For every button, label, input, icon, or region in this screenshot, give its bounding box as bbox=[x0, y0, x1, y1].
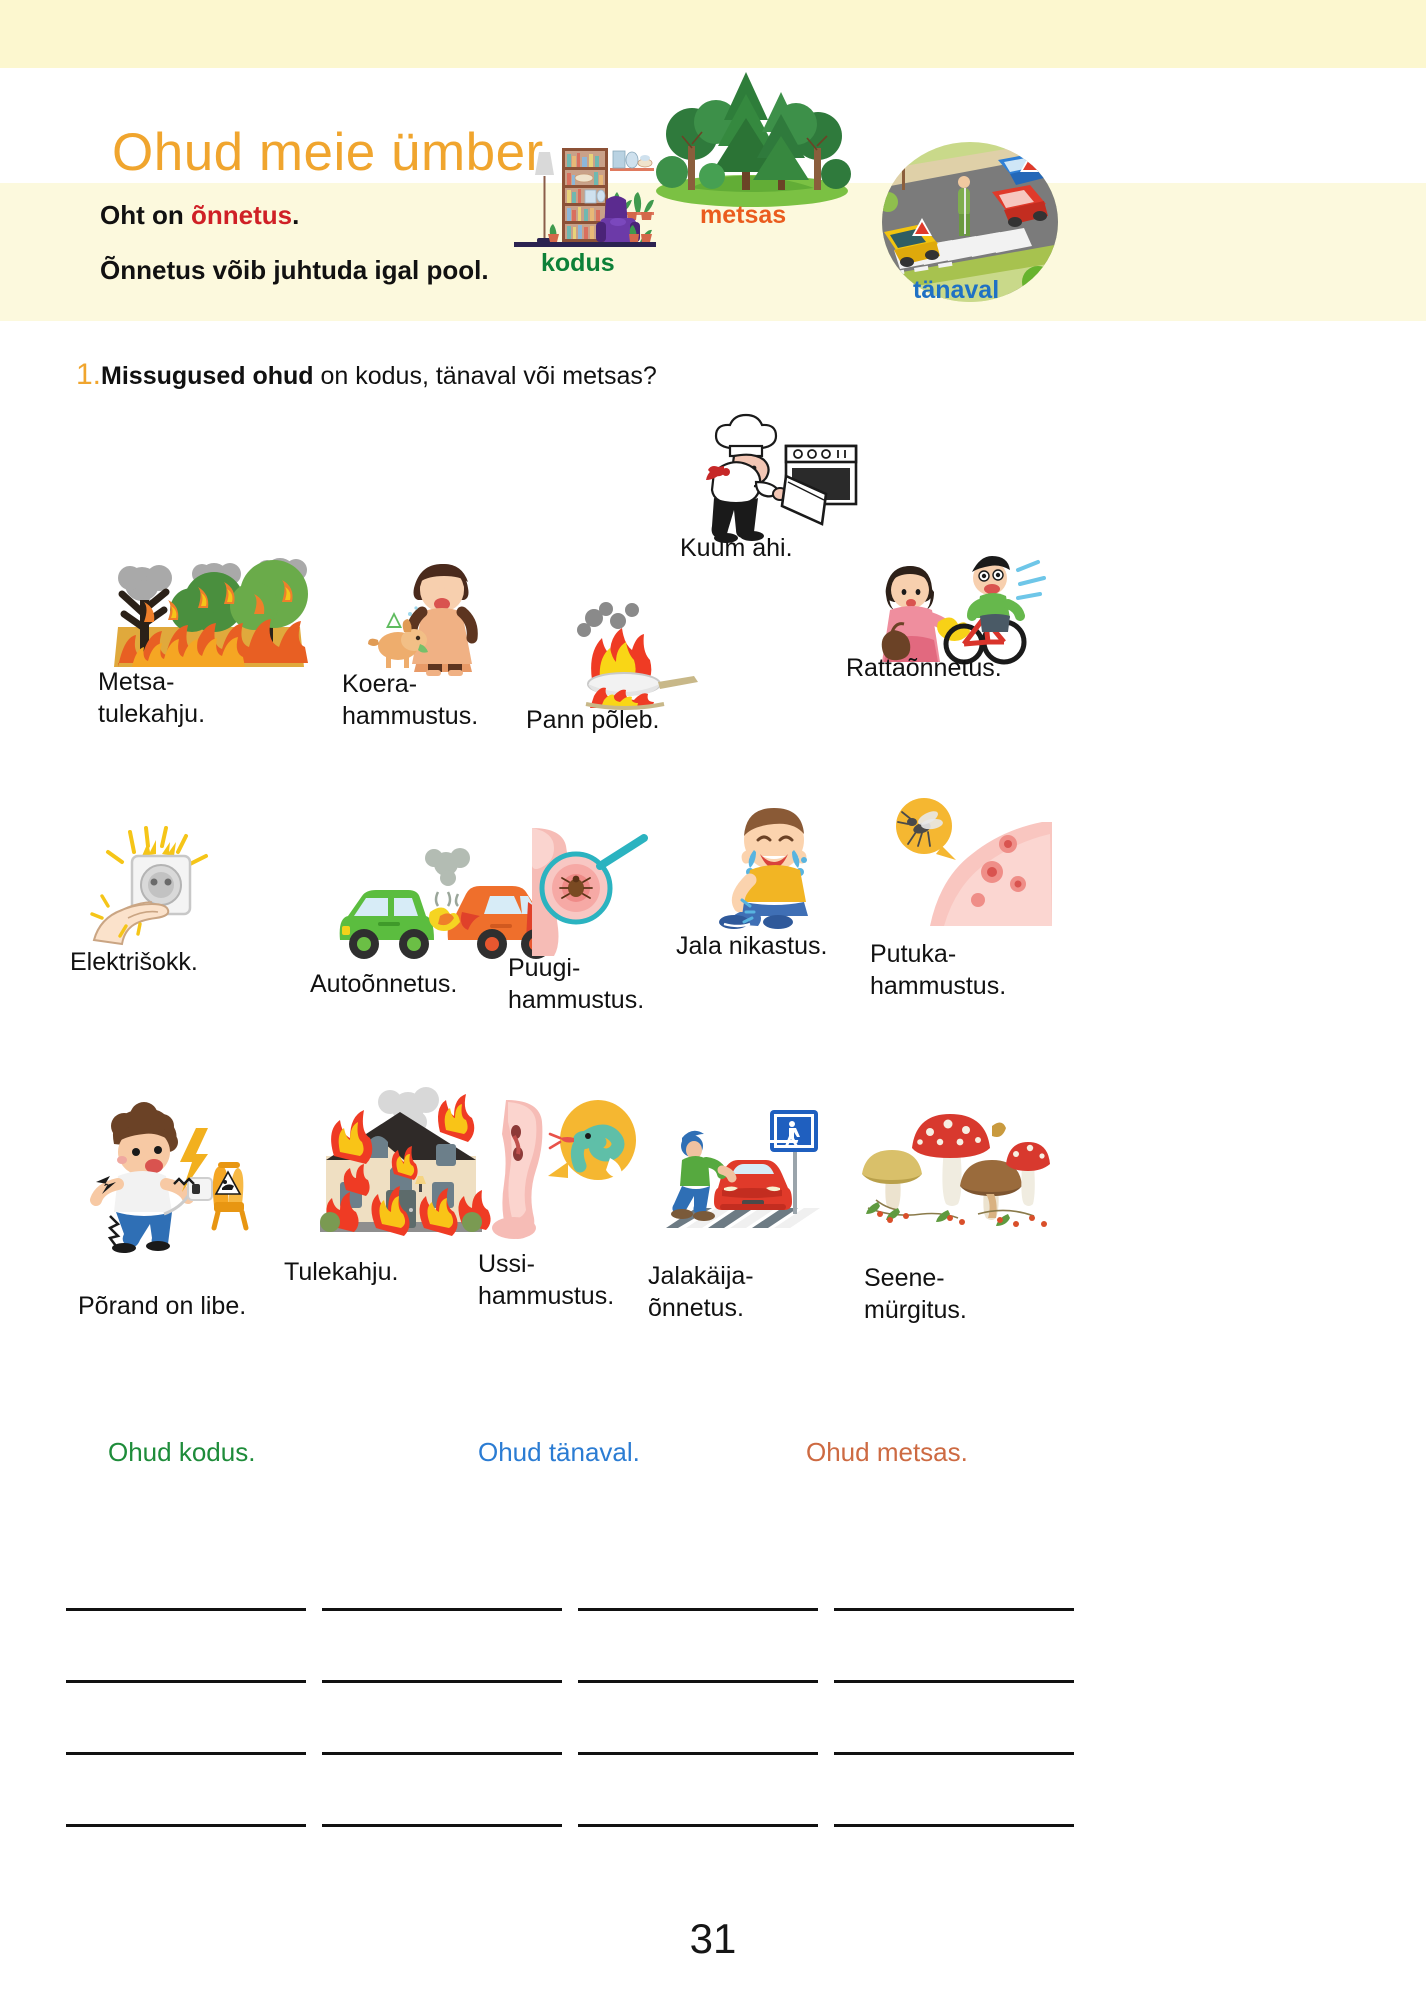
picture-card-forest-fire: Metsa- tulekahju. bbox=[104, 552, 314, 722]
answer-line[interactable] bbox=[66, 1608, 306, 1611]
snake-bite-icon bbox=[492, 1100, 652, 1240]
burning-house-icon bbox=[290, 1086, 510, 1246]
caption-pedestrian-accident: Jalakäija- õnnetus. bbox=[648, 1260, 868, 1324]
answer-line[interactable] bbox=[66, 1752, 306, 1755]
bicycle-accident-icon bbox=[868, 548, 1048, 668]
answer-line[interactable] bbox=[834, 1608, 1074, 1611]
mushrooms-icon bbox=[850, 1104, 1050, 1234]
picture-grid: Metsa- tulekahju. bbox=[0, 0, 1426, 2000]
slippery-floor-icon bbox=[92, 1096, 272, 1256]
picture-card-slippery-floor: Põrand on libe. bbox=[92, 1096, 272, 1286]
answer-line[interactable] bbox=[834, 1680, 1074, 1683]
answer-line[interactable] bbox=[578, 1752, 818, 1755]
picture-card-dog-bite: Koera- hammustus. bbox=[364, 552, 524, 722]
hot-oven-icon bbox=[690, 420, 860, 550]
caption-slippery-floor: Põrand on libe. bbox=[78, 1290, 338, 1322]
picture-card-pedestrian-accident: Jalakäija- õnnetus. bbox=[660, 1104, 840, 1284]
dog-bite-icon bbox=[364, 552, 524, 677]
picture-card-insect-bite: Putuka- hammustus. bbox=[882, 798, 1052, 958]
insect-bite-icon bbox=[882, 798, 1052, 928]
answer-line[interactable] bbox=[578, 1680, 818, 1683]
page-number: 31 bbox=[0, 1915, 1426, 1963]
picture-card-mushroom-poisoning: Seene- mürgitus. bbox=[850, 1104, 1050, 1274]
category-label-metsas: Ohud metsas. bbox=[806, 1437, 968, 1468]
answer-line[interactable] bbox=[322, 1608, 562, 1611]
picture-card-electric-shock: Elektrišokk. bbox=[86, 822, 246, 982]
burning-pan-icon bbox=[548, 596, 708, 706]
picture-card-house-fire: Tulekahju. bbox=[290, 1086, 510, 1246]
caption-mushroom-poisoning: Seene- mürgitus. bbox=[864, 1262, 1084, 1326]
caption-dog-bite: Koera- hammustus. bbox=[342, 668, 542, 732]
crying-child-icon bbox=[706, 800, 876, 930]
answer-line[interactable] bbox=[578, 1824, 818, 1827]
category-label-tanaval: Ohud tänaval. bbox=[478, 1437, 640, 1468]
picture-card-tick-bite: Puugi- hammustus. bbox=[518, 828, 698, 988]
answer-line[interactable] bbox=[322, 1752, 562, 1755]
caption-electric-shock: Elektrišokk. bbox=[70, 946, 270, 978]
answer-line[interactable] bbox=[66, 1680, 306, 1683]
tick-bite-icon bbox=[518, 828, 698, 958]
electric-socket-icon bbox=[86, 822, 246, 947]
pedestrian-crossing-icon bbox=[660, 1104, 840, 1244]
answer-line[interactable] bbox=[322, 1824, 562, 1827]
picture-card-sprained-foot: Jala nikastus. bbox=[706, 800, 876, 960]
picture-card-bicycle-accident: Rattaõnnetus. bbox=[868, 548, 1048, 718]
answer-line[interactable] bbox=[322, 1680, 562, 1683]
category-label-kodus: Ohud kodus. bbox=[108, 1437, 255, 1468]
caption-bicycle-accident: Rattaõnnetus. bbox=[846, 652, 1076, 684]
caption-forest-fire: Metsa- tulekahju. bbox=[98, 666, 308, 730]
caption-hot-oven: Kuum ahi. bbox=[680, 532, 880, 564]
picture-card-burning-pan: Pann põleb. bbox=[548, 596, 708, 736]
forest-fire-icon bbox=[104, 552, 314, 677]
answer-line[interactable] bbox=[66, 1824, 306, 1827]
answer-line[interactable] bbox=[834, 1824, 1074, 1827]
answer-line[interactable] bbox=[834, 1752, 1074, 1755]
picture-card-hot-oven: Kuum ahi. bbox=[690, 420, 860, 560]
caption-burning-pan: Pann põleb. bbox=[526, 704, 726, 736]
caption-insect-bite: Putuka- hammustus. bbox=[870, 938, 1090, 1002]
answer-line[interactable] bbox=[578, 1608, 818, 1611]
picture-card-snake-bite: Ussi- hammustus. bbox=[492, 1100, 652, 1280]
